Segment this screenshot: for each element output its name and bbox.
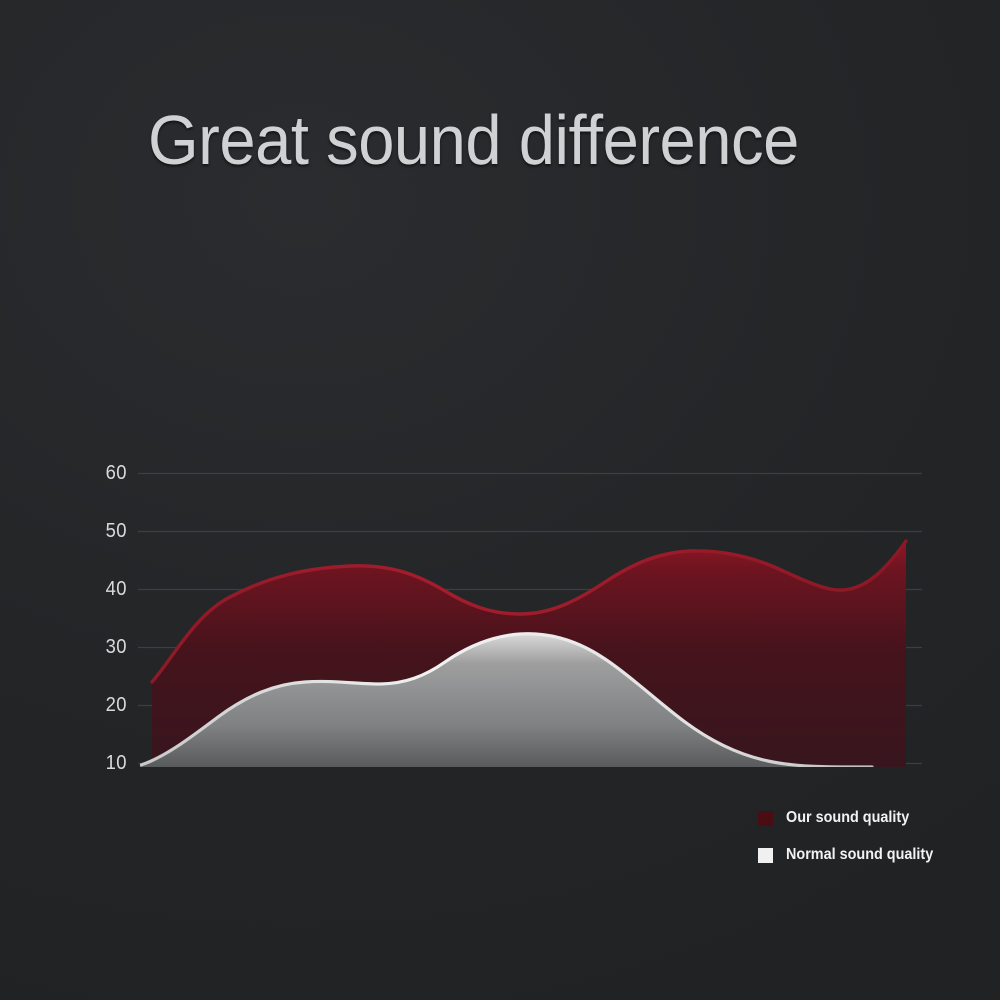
- y-axis-tick-50: 50: [90, 521, 127, 541]
- y-axis-tick-60: 60: [90, 463, 127, 483]
- legend-swatch-normal-sound-quality: [758, 848, 773, 863]
- legend-item-our-sound-quality[interactable]: Our sound quality: [758, 806, 950, 830]
- legend-label-normal-sound-quality: Normal sound quality: [786, 847, 933, 863]
- legend-label-our-sound-quality: Our sound quality: [786, 810, 909, 826]
- legend-item-normal-sound-quality[interactable]: Normal sound quality: [758, 843, 950, 867]
- sound-quality-area-chart: 60 50 40 30 20 10 Our sound quality Norm…: [0, 0, 1000, 1000]
- legend-swatch-our-sound-quality: [758, 811, 773, 826]
- y-axis-tick-10: 10: [90, 753, 127, 773]
- y-axis-tick-40: 40: [90, 579, 127, 599]
- y-axis-tick-30: 30: [90, 637, 127, 657]
- chart-legend: Our sound quality Normal sound quality: [758, 806, 950, 880]
- slide-canvas: Great sound difference: [0, 0, 1000, 1000]
- y-axis-tick-20: 20: [90, 695, 127, 715]
